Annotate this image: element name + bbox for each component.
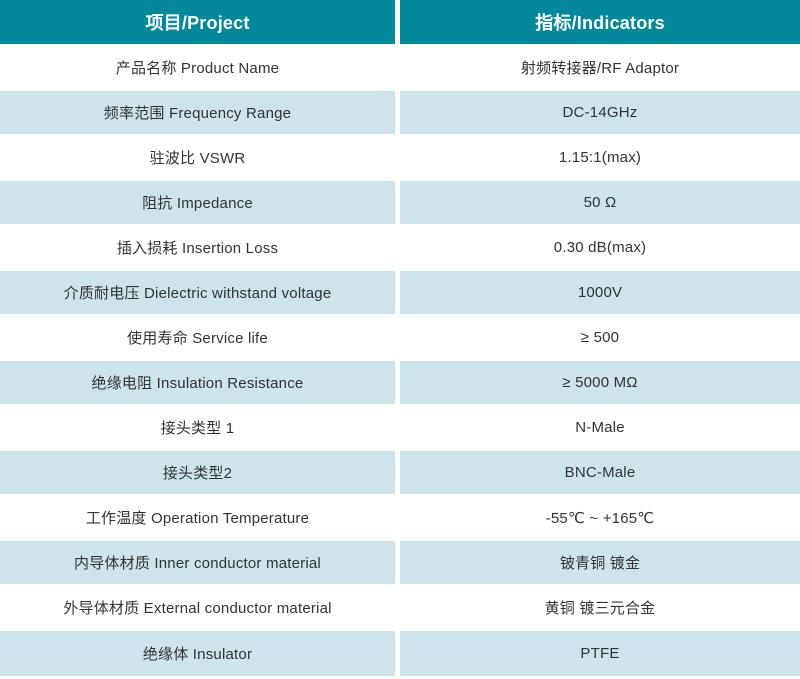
table-header: 项目/Project 指标/Indicators <box>0 0 800 46</box>
table-row: 工作温度 Operation Temperature-55℃ ~ +165℃ <box>0 496 800 541</box>
specification-table: 项目/Project 指标/Indicators 产品名称 Product Na… <box>0 0 800 676</box>
table-row: 内导体材质 Inner conductor material铍青铜 镀金 <box>0 541 800 586</box>
table-row: 介质耐电压 Dielectric withstand voltage1000V <box>0 271 800 316</box>
table-row: 绝缘体 InsulatorPTFE <box>0 631 800 676</box>
cell-project: 驻波比 VSWR <box>0 136 400 181</box>
cell-project: 阻抗 Impedance <box>0 181 400 226</box>
cell-indicator: DC-14GHz <box>400 91 800 136</box>
cell-project: 外导体材质 External conductor material <box>0 586 400 631</box>
cell-project: 绝缘体 Insulator <box>0 631 400 676</box>
cell-indicator: BNC-Male <box>400 451 800 496</box>
column-header-project: 项目/Project <box>0 0 400 46</box>
cell-indicator: ≥ 5000 MΩ <box>400 361 800 406</box>
table-header-row: 项目/Project 指标/Indicators <box>0 0 800 46</box>
table-row: 接头类型 1N-Male <box>0 406 800 451</box>
table-row: 绝缘电阻 Insulation Resistance≥ 5000 MΩ <box>0 361 800 406</box>
cell-indicator: N-Male <box>400 406 800 451</box>
cell-project: 绝缘电阻 Insulation Resistance <box>0 361 400 406</box>
cell-indicator: 黄铜 镀三元合金 <box>400 586 800 631</box>
cell-indicator: 0.30 dB(max) <box>400 226 800 271</box>
table-row: 阻抗 Impedance50 Ω <box>0 181 800 226</box>
cell-indicator: ≥ 500 <box>400 316 800 361</box>
table-row: 外导体材质 External conductor material黄铜 镀三元合… <box>0 586 800 631</box>
cell-indicator: 1000V <box>400 271 800 316</box>
table-row: 产品名称 Product Name射频转接器/RF Adaptor <box>0 46 800 91</box>
cell-project: 工作温度 Operation Temperature <box>0 496 400 541</box>
table-row: 接头类型2BNC-Male <box>0 451 800 496</box>
cell-project: 频率范围 Frequency Range <box>0 91 400 136</box>
table-row: 插入损耗 Insertion Loss0.30 dB(max) <box>0 226 800 271</box>
table-row: 驻波比 VSWR1.15:1(max) <box>0 136 800 181</box>
table-row: 频率范围 Frequency RangeDC-14GHz <box>0 91 800 136</box>
column-header-indicators: 指标/Indicators <box>400 0 800 46</box>
cell-project: 接头类型 1 <box>0 406 400 451</box>
cell-indicator: 铍青铜 镀金 <box>400 541 800 586</box>
cell-project: 产品名称 Product Name <box>0 46 400 91</box>
cell-project: 内导体材质 Inner conductor material <box>0 541 400 586</box>
cell-indicator: PTFE <box>400 631 800 676</box>
table-body: 产品名称 Product Name射频转接器/RF Adaptor频率范围 Fr… <box>0 46 800 676</box>
cell-indicator: -55℃ ~ +165℃ <box>400 496 800 541</box>
cell-project: 接头类型2 <box>0 451 400 496</box>
cell-project: 插入损耗 Insertion Loss <box>0 226 400 271</box>
cell-indicator: 50 Ω <box>400 181 800 226</box>
cell-indicator: 1.15:1(max) <box>400 136 800 181</box>
cell-indicator: 射频转接器/RF Adaptor <box>400 46 800 91</box>
table-row: 使用寿命 Service life≥ 500 <box>0 316 800 361</box>
cell-project: 使用寿命 Service life <box>0 316 400 361</box>
cell-project: 介质耐电压 Dielectric withstand voltage <box>0 271 400 316</box>
